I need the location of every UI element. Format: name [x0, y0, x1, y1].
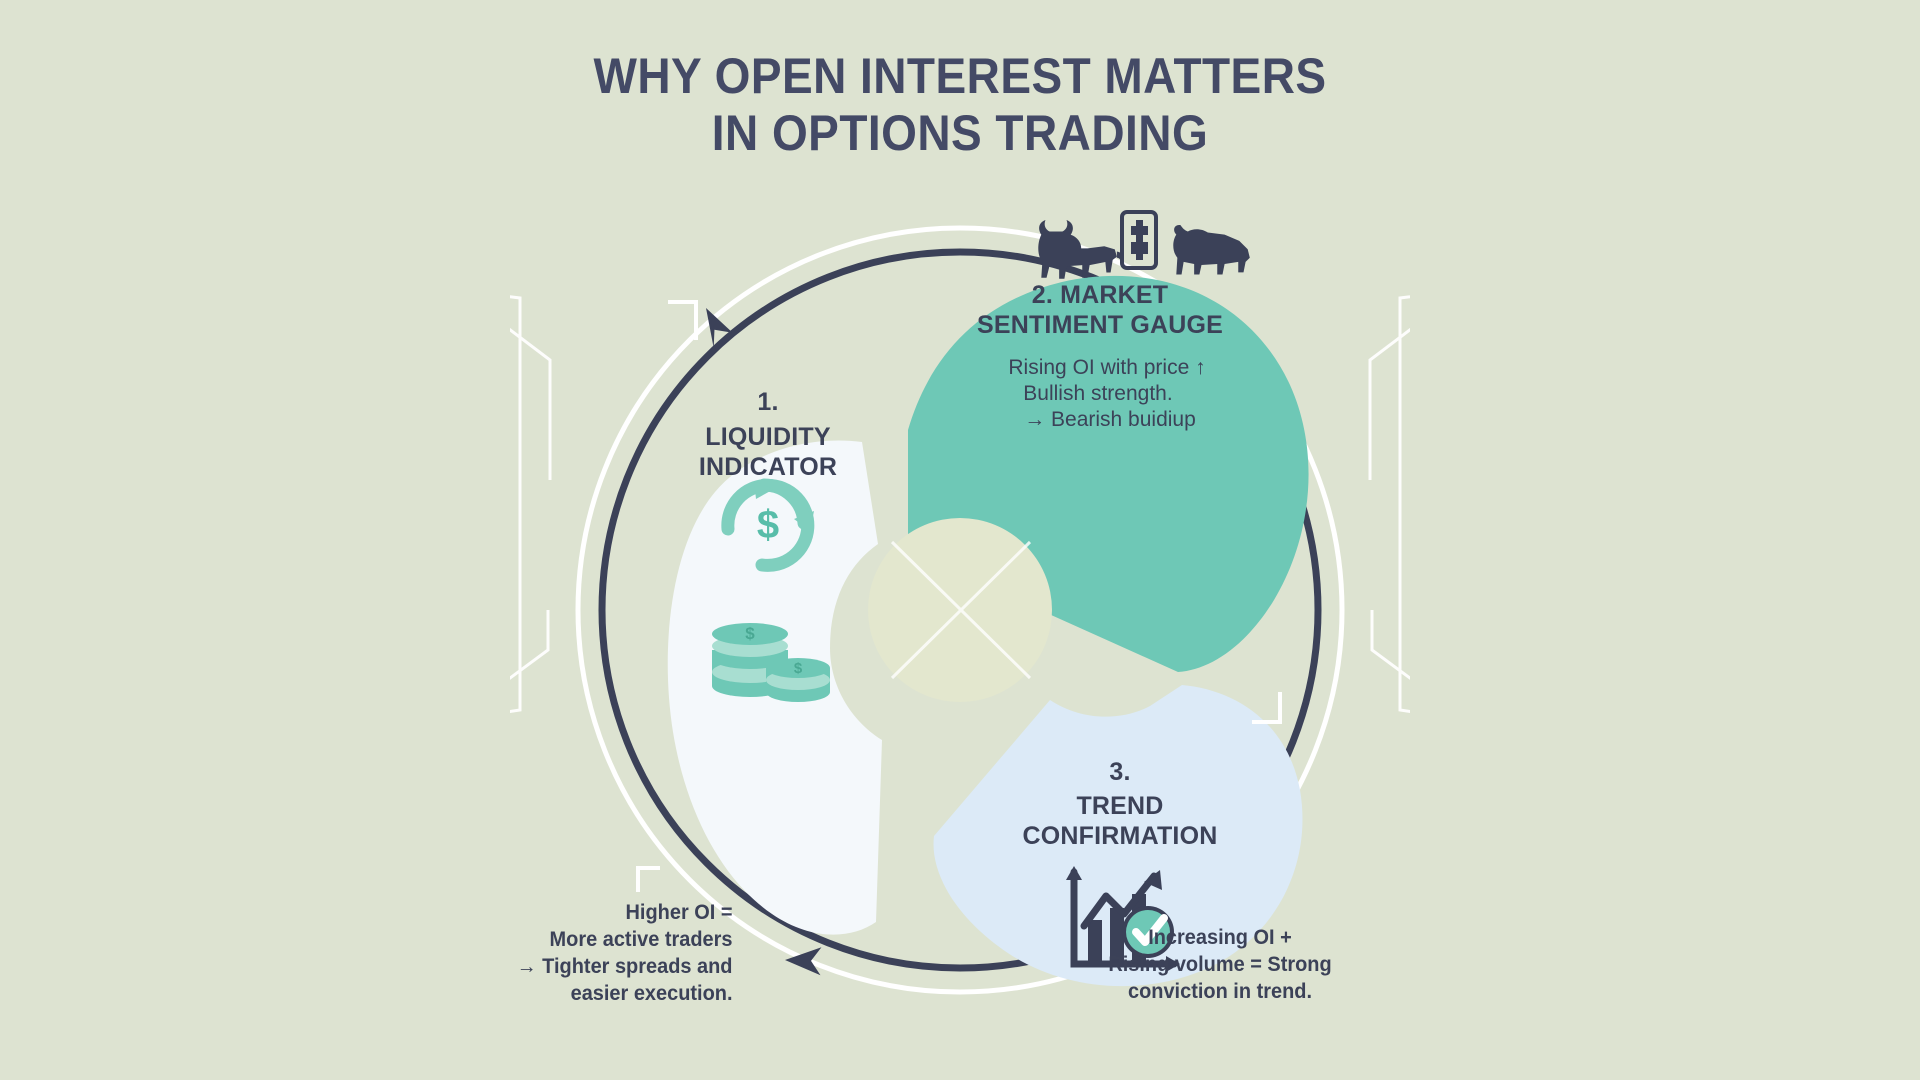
bracket-frame-icon-left	[510, 290, 550, 720]
segment-sentiment-body-2: Bullish strength.	[1023, 382, 1172, 405]
segment-sentiment-body-1: Rising OI with price ↑	[1008, 356, 1205, 379]
svg-text:$: $	[745, 624, 755, 643]
segment-trend-number: 3.	[1109, 758, 1130, 786]
caption-left-line-2: More active traders	[448, 927, 733, 954]
title-line-2: IN OPTIONS TRADING	[77, 105, 1843, 162]
page-title: WHY OPEN INTEREST MATTERS IN OPTIONS TRA…	[77, 48, 1843, 162]
caption-left: Higher OI = More active traders → Tighte…	[448, 900, 733, 1008]
infographic-canvas: WHY OPEN INTEREST MATTERS IN OPTIONS TRA…	[0, 0, 1920, 1080]
caption-right: Increasing OI + Rising volume = Strong c…	[1068, 925, 1372, 1006]
caption-left-line-4: easier execution.	[448, 981, 733, 1008]
bracket-frame-icon-right	[1370, 290, 1410, 720]
bear-icon	[1173, 225, 1250, 274]
caption-left-line-1: Higher OI =	[448, 900, 733, 927]
candlestick-icon	[1122, 212, 1156, 268]
segment-liquidity-number: 1.	[757, 388, 778, 416]
caption-right-line-3: conviction in trend.	[1068, 979, 1372, 1006]
title-line-1: WHY OPEN INTEREST MATTERS	[77, 48, 1843, 105]
segment-liquidity-title-1: LIQUIDITY	[705, 423, 831, 451]
segment-sentiment-body-3: → Bearish buidiup	[1024, 408, 1196, 431]
svg-text:$: $	[757, 503, 779, 547]
segment-liquidity-title-2: INDICATOR	[699, 453, 837, 481]
segment-trend-title-2: CONFIRMATION	[1023, 822, 1218, 850]
segment-trend-title-1: TREND	[1076, 792, 1163, 820]
segment-sentiment-title-2: SENTIMENT GAUGE	[977, 311, 1223, 339]
segment-sentiment-title-1: 2. MARKET	[1032, 281, 1169, 309]
svg-text:$: $	[794, 660, 803, 677]
hub	[868, 518, 1052, 702]
caption-right-line-1: Increasing OI +	[1068, 925, 1372, 952]
caption-left-line-3: → Tighter spreads and	[448, 954, 733, 981]
caption-right-line-2: Rising volume = Strong	[1068, 952, 1372, 979]
